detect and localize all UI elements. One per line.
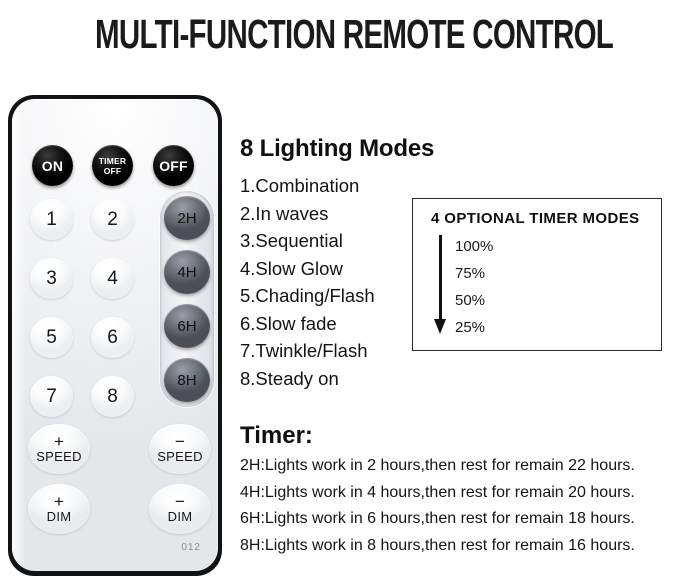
list-item: 6H:Lights work in 6 hours,then rest for … [240,506,635,533]
timer-heading: Timer: [240,422,313,450]
remote-button-off-label: OFF [159,158,188,174]
remote-button-6-label: 6 [107,327,118,349]
arrow-head [434,319,446,334]
remote-button-8h-label: 8H [177,372,196,389]
page-title: MULTI-FUNCTION REMOTE CONTROL [95,8,584,60]
remote-button-timer-off-label: TIMER OFF [92,156,133,176]
plus-icon: + [54,435,64,448]
remote-button-4h-label: 4H [177,264,196,281]
timer-description-list: 2H:Lights work in 2 hours,then rest for … [240,453,635,559]
remote-button-dim-down-label: DIM [168,510,193,523]
remote-faceplate: ON TIMER OFF OFF 1 2 3 4 5 6 7 [12,99,218,571]
remote-button-4-label: 4 [107,268,118,290]
remote-button-speed-down[interactable]: − SPEED [149,424,211,474]
remote-button-7[interactable]: 7 [30,376,73,417]
remote-button-off[interactable]: OFF [153,145,194,186]
remote-button-timer-off[interactable]: TIMER OFF [92,145,133,186]
remote-control-device: ON TIMER OFF OFF 1 2 3 4 5 6 7 [8,95,222,576]
lighting-modes-list: 1.Combination 2.In waves 3.Sequential 4.… [240,172,375,392]
remote-button-speed-up-label: SPEED [36,450,82,463]
remote-button-6h-label: 6H [177,318,196,335]
remote-button-2-label: 2 [107,209,118,231]
list-item: 6.Slow fade [240,310,375,338]
remote-button-dim-down[interactable]: − DIM [149,484,211,534]
list-item: 50% [455,287,493,314]
remote-button-2h[interactable]: 2H [164,196,210,240]
list-item: 2H:Lights work in 2 hours,then rest for … [240,453,635,480]
lighting-modes-heading: 8 Lighting Modes [240,135,434,163]
list-item: 5.Chading/Flash [240,282,375,310]
list-item: 1.Combination [240,172,375,200]
remote-button-8-label: 8 [107,386,118,408]
remote-button-8h[interactable]: 8H [164,358,210,402]
remote-button-on[interactable]: ON [32,145,73,186]
remote-button-dim-up[interactable]: + DIM [28,484,90,534]
list-item: 8.Steady on [240,365,375,393]
remote-button-5-label: 5 [46,327,57,349]
remote-button-speed-down-label: SPEED [157,450,203,463]
remote-button-6h[interactable]: 6H [164,304,210,348]
remote-model-code: 012 [181,542,201,553]
remote-button-4h[interactable]: 4H [164,250,210,294]
remote-button-dim-up-label: DIM [47,510,72,523]
list-item: 4.Slow Glow [240,255,375,283]
minus-icon: − [175,435,185,448]
optional-timer-modes-title: 4 OPTIONAL TIMER MODES [431,210,640,227]
list-item: 8H:Lights work in 8 hours,then rest for … [240,533,635,560]
brightness-level-list: 100% 75% 50% 25% [455,233,493,341]
list-item: 100% [455,233,493,260]
remote-button-3[interactable]: 3 [30,258,73,299]
remote-button-2[interactable]: 2 [91,199,134,240]
remote-button-5[interactable]: 5 [30,317,73,358]
list-item: 7.Twinkle/Flash [240,337,375,365]
remote-button-2h-label: 2H [177,210,196,227]
list-item: 75% [455,260,493,287]
remote-button-1-label: 1 [46,209,57,231]
list-item: 4H:Lights work in 4 hours,then rest for … [240,480,635,507]
remote-button-6[interactable]: 6 [91,317,134,358]
remote-button-on-label: ON [42,158,63,174]
optional-timer-modes-box: 4 OPTIONAL TIMER MODES 100% 75% 50% 25% [412,198,662,351]
remote-button-1[interactable]: 1 [30,199,73,240]
remote-button-8[interactable]: 8 [91,376,134,417]
remote-button-speed-up[interactable]: + SPEED [28,424,90,474]
remote-button-3-label: 3 [46,268,57,290]
plus-icon: + [54,495,64,508]
list-item: 3.Sequential [240,227,375,255]
remote-button-4[interactable]: 4 [91,258,134,299]
list-item: 2.In waves [240,200,375,228]
list-item: 25% [455,314,493,341]
arrow-shaft [439,235,442,321]
remote-button-7-label: 7 [46,386,57,408]
down-arrow-icon [434,235,447,334]
minus-icon: − [175,495,185,508]
